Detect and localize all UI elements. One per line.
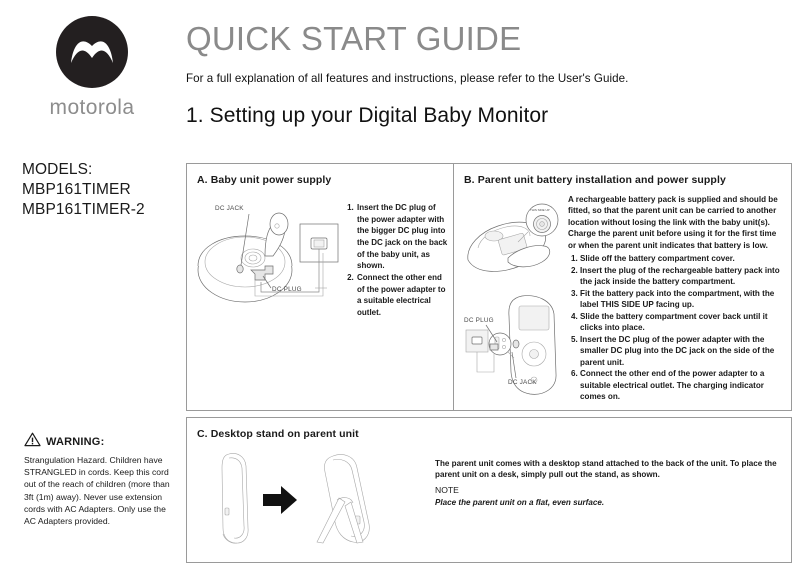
page-subtitle: For a full explanation of all features a… [186,72,792,85]
header-block: QUICK START GUIDE For a full explanation… [186,22,792,128]
list-item: Connect the other end of the power adapt… [356,272,449,319]
section-a-heading: A. Baby unit power supply [197,174,449,186]
section-c-note: Place the parent unit on a flat, even su… [435,497,783,508]
section-c-note-label: NOTE [435,485,783,497]
models-block: MODELS: MBP161TIMER MBP161TIMER-2 [22,160,182,219]
section-a: A. Baby unit power supply [197,174,449,402]
dc-jack-label: DC JACK [215,205,244,212]
arrow-icon [263,486,297,514]
list-item: Fit the battery pack into the compartmen… [580,288,782,311]
page-title: QUICK START GUIDE [186,22,792,55]
section-b-text: A rechargeable battery pack is supplied … [568,194,782,403]
section-c-text: The parent unit comes with a desktop sta… [435,458,783,508]
desktop-stand-figure [207,450,437,550]
parent-unit-figures: THIS SIDE UP [464,196,568,402]
step-1-title: 1. Setting up your Digital Baby Monitor [186,104,792,128]
section-c-heading: C. Desktop stand on parent unit [197,428,783,440]
list-item: Slide the battery compartment cover back… [580,311,782,334]
warning-body: Strangulation Hazard. Children have STRA… [24,454,174,527]
dc-plug-label-b: DC PLUG [464,317,494,324]
model-number-2: MBP161TIMER-2 [22,200,182,220]
list-item: Slide off the battery compartment cover. [580,253,782,264]
section-b-heading: B. Parent unit battery installation and … [464,174,782,186]
brand-block: motorola [22,16,162,120]
this-side-up-label: THIS SIDE UP [530,208,550,212]
section-a-steps: Insert the DC plug of the power adapter … [345,202,449,319]
warning-title: WARNING: [46,436,104,448]
motorola-batwing-icon [56,16,128,88]
models-label: MODELS: [22,160,182,180]
warning-triangle-icon [24,432,41,452]
section-c: C. Desktop stand on parent unit [197,428,783,554]
warning-block: WARNING: Strangulation Hazard. Children … [24,432,174,527]
list-item: Insert the plug of the rechargeable batt… [580,265,782,288]
panel-a-b: A. Baby unit power supply [186,163,792,411]
section-b: B. Parent unit battery installation and … [464,174,782,402]
warning-header: WARNING: [24,432,174,452]
section-b-intro: A rechargeable battery pack is supplied … [568,194,782,251]
panel-divider [453,164,454,410]
panel-c: C. Desktop stand on parent unit [186,417,792,563]
list-item: Insert the DC plug of the power adapter … [356,202,449,272]
model-number-1: MBP161TIMER [22,180,182,200]
baby-unit-figure: DC JACK DC PLUG [197,196,345,346]
list-item: Insert the DC plug of the power adapter … [580,334,782,368]
motorola-wordmark: motorola [22,96,162,120]
section-c-body: The parent unit comes with a desktop sta… [435,458,783,480]
list-item: Connect the other end of the power adapt… [580,368,782,402]
quick-start-guide-page: motorola MODELS: MBP161TIMER MBP161TIMER… [0,0,802,567]
dc-jack-label-b: DC JACK [508,379,537,386]
